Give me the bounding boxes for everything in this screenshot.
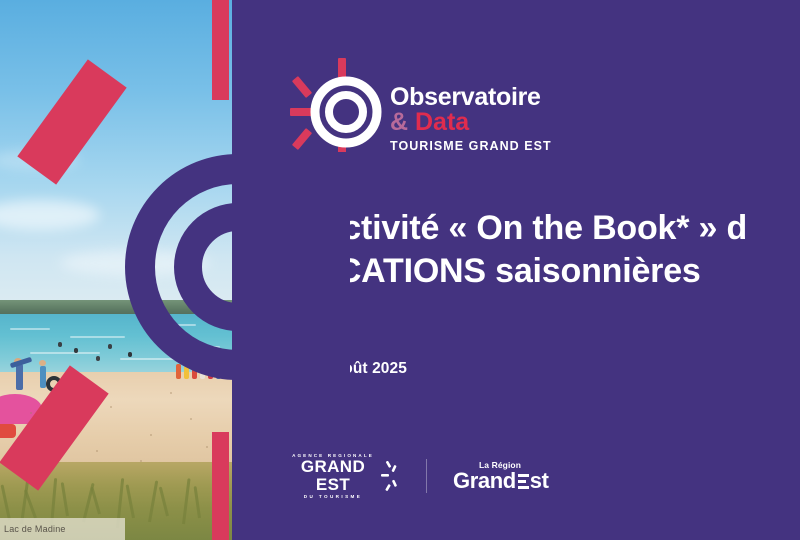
footer-logo-row: AGENCE REGIONALE GRAND EST DU TOURISME (282, 450, 549, 502)
observatoire-target-icon (290, 58, 398, 166)
agency-logo-bottom-text: DU TOURISME (282, 494, 400, 499)
region-logo-word-grand: Grand (453, 470, 516, 492)
lake-water (0, 314, 232, 376)
footer-logo-divider (426, 459, 427, 493)
page-title: L’Activité « On the Book* » d LOCATIONS … (290, 207, 800, 293)
brand-title-observatoire: Observatoire (390, 84, 552, 110)
page-title-line-2: LOCATIONS saisonnières (290, 250, 800, 293)
decorative-crimson-bar-top (212, 0, 229, 100)
reference-date: au 26 août 2025 (290, 360, 407, 378)
region-logo-word-est: st (530, 470, 549, 492)
photo-caption-text: Lac de Madine (4, 524, 66, 534)
decorative-crimson-bar-bottom (212, 432, 229, 540)
brand-title-data: & Data (390, 109, 552, 135)
region-logo-main-text: Grand st (453, 470, 549, 492)
brand-wordmark: Observatoire & Data TOURISME GRAND EST (390, 84, 552, 153)
brand-ampersand: & (390, 108, 415, 136)
region-grand-est-logo: La Région Grand st (453, 460, 549, 492)
brand-data-word: Data (415, 108, 469, 136)
agence-regionale-tourisme-logo: AGENCE REGIONALE GRAND EST DU TOURISME (282, 454, 400, 498)
cloud-shape (60, 250, 210, 276)
observatoire-brand-lockup: Observatoire & Data TOURISME GRAND EST (290, 58, 590, 168)
photo-caption: Lac de Madine (0, 518, 125, 540)
presentation-slide: Lac de Madine (0, 0, 800, 540)
region-e-mark-icon (518, 473, 529, 489)
page-title-line-1: L’Activité « On the Book* » d (290, 207, 800, 250)
agency-burst-icon (380, 461, 400, 491)
brand-subtitle: TOURISME GRAND EST (390, 139, 552, 153)
content-panel: Observatoire & Data TOURISME GRAND EST L… (232, 0, 800, 540)
